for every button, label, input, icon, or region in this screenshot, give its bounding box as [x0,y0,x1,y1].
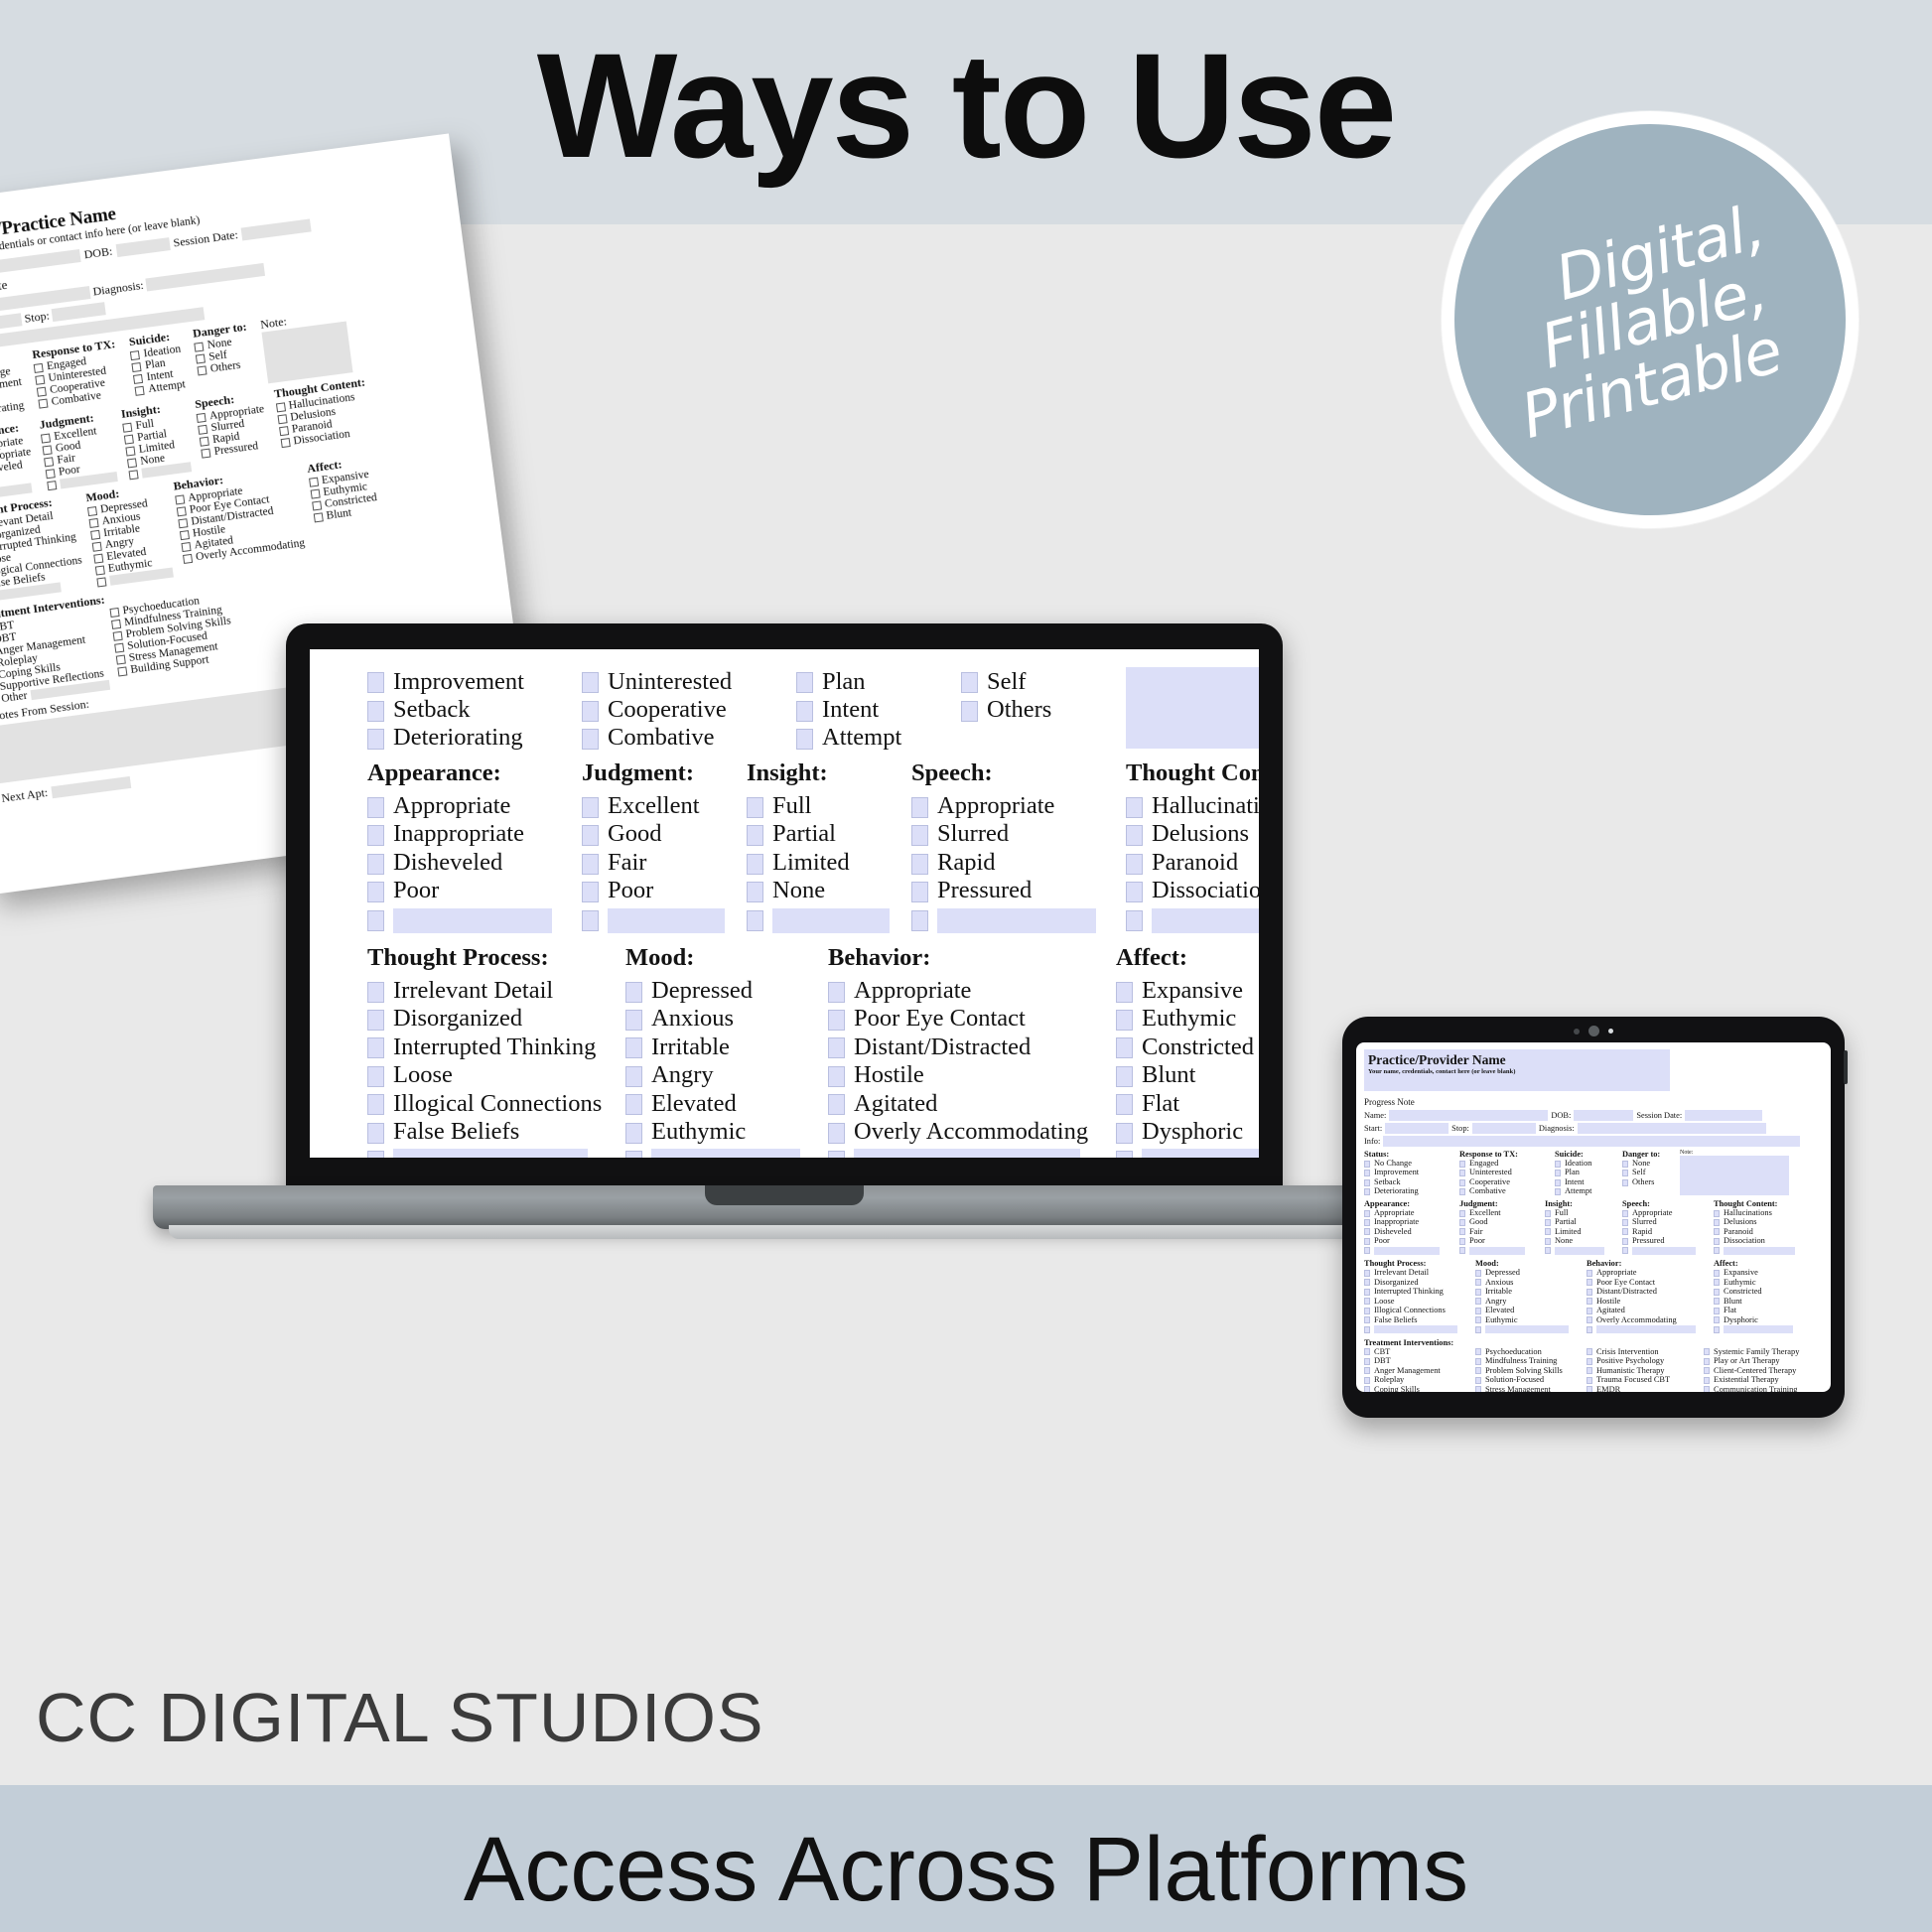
checkbox[interactable] [88,518,98,528]
tablet-check-item-other[interactable] [1587,1324,1714,1333]
checkbox[interactable] [796,672,813,693]
laptop-check-item[interactable]: Pressured [911,877,1126,904]
checkbox[interactable] [1622,1179,1628,1186]
checkbox[interactable] [1459,1170,1465,1176]
tablet-session-date-field[interactable] [1685,1110,1762,1121]
tablet-check-item[interactable]: Good [1459,1217,1545,1226]
tablet-check-item[interactable]: Elevated [1475,1306,1587,1314]
checkbox[interactable] [1704,1358,1710,1365]
checkbox[interactable] [1364,1270,1370,1277]
checkbox[interactable] [1116,1151,1133,1158]
laptop-check-item[interactable]: Loose [367,1061,625,1089]
checkbox[interactable] [367,910,384,931]
tablet-check-item[interactable]: Blunt [1714,1297,1793,1306]
checkbox[interactable] [1116,1010,1133,1031]
checkbox[interactable] [1587,1316,1592,1323]
tablet-check-item[interactable]: Self [1622,1168,1680,1176]
checkbox[interactable] [1714,1219,1720,1226]
laptop-check-item[interactable]: Rapid [911,848,1126,876]
laptop-check-item[interactable]: Blunt [1116,1061,1259,1089]
laptop-check-item[interactable]: Distant/Distracted [828,1033,1116,1060]
checkbox[interactable] [961,701,978,722]
laptop-check-item[interactable]: Illogical Connections [367,1089,625,1117]
checkbox[interactable] [1622,1170,1628,1176]
laptop-check-item[interactable]: Appropriate [911,791,1126,819]
tablet-check-item-other[interactable] [1545,1246,1622,1255]
checkbox[interactable] [1714,1298,1720,1305]
laptop-check-item[interactable]: Hostile [828,1061,1116,1089]
tablet-check-item[interactable]: Delusions [1714,1217,1795,1226]
checkbox[interactable] [747,825,763,846]
tablet-check-item-other[interactable] [1475,1324,1587,1333]
checkbox[interactable] [1587,1348,1592,1355]
tablet-info-field[interactable] [1383,1136,1800,1147]
checkbox[interactable] [911,882,928,902]
checkbox[interactable] [1364,1358,1370,1365]
laptop-check-item[interactable]: Irritable [625,1033,828,1060]
checkbox[interactable] [1364,1316,1370,1323]
tablet-check-item[interactable]: Excellent [1459,1208,1545,1217]
checkbox[interactable] [47,481,57,490]
laptop-check-item[interactable]: Limited [747,848,911,876]
checkbox[interactable] [625,982,642,1003]
checkbox[interactable] [828,1066,845,1087]
checkbox[interactable] [1714,1247,1720,1254]
tablet-check-item[interactable]: Overly Accommodating [1587,1315,1714,1324]
checkbox[interactable] [828,1010,845,1031]
tablet-stop-field[interactable] [1472,1123,1536,1134]
checkbox[interactable] [1364,1386,1370,1392]
checkbox[interactable] [127,458,137,468]
checkbox[interactable] [1587,1326,1592,1333]
paper-next-apt-field[interactable] [51,775,131,797]
checkbox[interactable] [94,565,104,575]
checkbox[interactable] [1714,1316,1720,1323]
checkbox[interactable] [1475,1358,1481,1365]
laptop-check-item[interactable]: Euthymic [625,1118,828,1146]
checkbox[interactable] [93,553,103,563]
laptop-check-item[interactable]: Poor Eye Contact [828,1005,1116,1033]
checkbox[interactable] [828,1094,845,1115]
tablet-check-item[interactable]: Fair [1459,1227,1545,1236]
checkbox[interactable] [582,672,599,693]
laptop-check-item[interactable]: Inappropriate [367,820,582,848]
checkbox[interactable] [625,1123,642,1144]
checkbox[interactable] [582,701,599,722]
checkbox[interactable] [1364,1326,1370,1333]
tablet-check-item[interactable]: Loose [1364,1297,1475,1306]
tablet-check-item[interactable]: Uninterested [1459,1168,1555,1176]
tablet-check-item[interactable]: Limited [1545,1227,1622,1236]
checkbox[interactable] [747,797,763,818]
checkbox[interactable] [1126,910,1143,931]
laptop-check-item[interactable]: Agitated [828,1089,1116,1117]
checkbox[interactable] [1116,1123,1133,1144]
checkbox[interactable] [1116,1037,1133,1058]
checkbox[interactable] [1587,1377,1592,1384]
checkbox[interactable] [117,666,127,676]
checkbox[interactable] [180,530,190,540]
tablet-check-item[interactable]: Positive Psychology [1587,1356,1704,1365]
checkbox[interactable] [1587,1298,1592,1305]
checkbox[interactable] [961,672,978,693]
checkbox[interactable] [747,854,763,875]
tablet-check-item[interactable]: Problem Solving Skills [1475,1366,1587,1375]
tablet-check-item[interactable]: Solution-Focused [1475,1375,1587,1384]
laptop-check-item[interactable]: Anxious [625,1005,828,1033]
checkbox[interactable] [1475,1316,1481,1323]
laptop-check-item[interactable]: Angry [625,1061,828,1089]
tablet-check-item[interactable]: Coping Skills [1364,1385,1475,1392]
tablet-check-item[interactable]: CBT [1364,1347,1475,1356]
checkbox[interactable] [1704,1348,1710,1355]
tablet-check-item[interactable]: Humanistic Therapy [1587,1366,1704,1375]
laptop-check-item[interactable]: Appropriate [828,976,1116,1004]
checkbox[interactable] [1704,1377,1710,1384]
tablet-check-item[interactable]: Anger Management [1364,1366,1475,1375]
checkbox[interactable] [1704,1367,1710,1374]
laptop-check-item[interactable]: Self [961,667,1126,695]
laptop-check-item-other[interactable] [625,1146,828,1158]
checkbox[interactable] [1364,1219,1370,1226]
tablet-check-item[interactable]: None [1622,1159,1680,1168]
checkbox[interactable] [625,1010,642,1031]
checkbox[interactable] [1116,982,1133,1003]
checkbox[interactable] [1622,1210,1628,1217]
checkbox[interactable] [1364,1210,1370,1217]
checkbox[interactable] [196,353,206,363]
checkbox[interactable] [91,542,101,552]
checkbox[interactable] [367,701,384,722]
laptop-check-item[interactable]: Disheveled [367,848,582,876]
checkbox[interactable] [111,620,121,629]
checkbox[interactable] [1714,1238,1720,1245]
checkbox[interactable] [181,542,191,552]
checkbox[interactable] [35,375,45,385]
tablet-check-item[interactable]: Play or Art Therapy [1704,1356,1799,1365]
checkbox[interactable] [1126,825,1143,846]
checkbox[interactable] [1714,1228,1720,1235]
laptop-check-item[interactable]: None [747,877,911,904]
checkbox[interactable] [1475,1270,1481,1277]
laptop-check-item[interactable]: Poor [582,877,747,904]
tablet-check-item[interactable]: Rapid [1622,1227,1714,1236]
checkbox[interactable] [44,457,54,467]
checkbox[interactable] [133,374,143,384]
checkbox[interactable] [367,982,384,1003]
checkbox[interactable] [114,643,124,653]
checkbox[interactable] [124,434,134,444]
checkbox[interactable] [1364,1228,1370,1235]
tablet-check-item[interactable]: Cooperative [1459,1177,1555,1186]
checkbox[interactable] [1545,1210,1551,1217]
tablet-check-item[interactable]: Anxious [1475,1278,1587,1287]
checkbox[interactable] [1622,1238,1628,1245]
tablet-power-button[interactable] [1844,1050,1848,1084]
tablet-check-item[interactable]: Stress Management [1475,1385,1587,1392]
checkbox[interactable] [1587,1270,1592,1277]
laptop-check-item[interactable]: Partial [747,820,911,848]
checkbox[interactable] [280,438,290,448]
checkbox[interactable] [582,797,599,818]
laptop-check-item[interactable]: Good [582,820,747,848]
laptop-check-item[interactable]: Poor [367,877,582,904]
checkbox[interactable] [828,1151,845,1158]
laptop-check-item-other[interactable] [367,1146,625,1158]
checkbox[interactable] [367,797,384,818]
tablet-check-item[interactable]: Communication Training [1704,1385,1799,1392]
tablet-check-item[interactable]: Poor Eye Contact [1587,1278,1714,1287]
checkbox[interactable] [367,1151,384,1158]
checkbox[interactable] [1714,1308,1720,1314]
checkbox[interactable] [135,386,145,396]
tablet-check-item[interactable]: Dissociation [1714,1236,1795,1245]
checkbox[interactable] [367,1066,384,1087]
laptop-check-item[interactable]: Euthymic [1116,1005,1259,1033]
tablet-check-item[interactable]: Euthymic [1475,1315,1587,1324]
tablet-check-item[interactable]: Appropriate [1587,1268,1714,1277]
tablet-check-item[interactable]: Client-Centered Therapy [1704,1366,1799,1375]
checkbox[interactable] [132,362,142,372]
checkbox[interactable] [625,1094,642,1115]
laptop-check-item[interactable]: Attempt [796,724,961,752]
checkbox[interactable] [1364,1348,1370,1355]
checkbox[interactable] [1459,1161,1465,1168]
checkbox[interactable] [1622,1219,1628,1226]
checkbox[interactable] [1459,1210,1465,1217]
checkbox[interactable] [277,414,287,424]
checkbox[interactable] [367,825,384,846]
checkbox[interactable] [367,1123,384,1144]
checkbox[interactable] [796,701,813,722]
checkbox[interactable] [1475,1386,1481,1392]
checkbox[interactable] [112,631,122,641]
tablet-check-item[interactable]: Roleplay [1364,1375,1475,1384]
laptop-check-item[interactable]: Irrelevant Detail [367,976,625,1004]
tablet-check-item[interactable]: Intent [1555,1177,1622,1186]
laptop-check-item-other[interactable] [828,1146,1116,1158]
checkbox[interactable] [198,425,207,435]
checkbox[interactable] [96,577,106,587]
checkbox[interactable] [310,488,320,498]
tablet-check-item[interactable]: Inappropriate [1364,1217,1459,1226]
checkbox[interactable] [1714,1279,1720,1286]
tablet-check-item[interactable]: DBT [1364,1356,1475,1365]
tablet-check-item[interactable]: Full [1545,1208,1622,1217]
tablet-check-item[interactable]: Crisis Intervention [1587,1347,1704,1356]
tablet-check-item[interactable]: Appropriate [1364,1208,1459,1217]
tablet-check-item[interactable]: Angry [1475,1297,1587,1306]
tablet-check-item-other[interactable] [1364,1324,1475,1333]
tablet-check-item[interactable]: Constricted [1714,1287,1793,1296]
laptop-check-item-other[interactable] [911,904,1126,934]
tablet-dob-field[interactable] [1574,1110,1633,1121]
checkbox[interactable] [38,398,48,408]
checkbox[interactable] [1364,1279,1370,1286]
laptop-check-item[interactable]: Disorganized [367,1005,625,1033]
checkbox[interactable] [828,1037,845,1058]
checkbox[interactable] [1587,1289,1592,1296]
checkbox[interactable] [796,729,813,750]
checkbox[interactable] [1116,1066,1133,1087]
checkbox[interactable] [1459,1188,1465,1195]
tablet-check-item[interactable]: Others [1622,1177,1680,1186]
checkbox[interactable] [1126,854,1143,875]
checkbox[interactable] [1475,1348,1481,1355]
tablet-check-item[interactable]: Slurred [1622,1217,1714,1226]
tablet-check-item[interactable]: Agitated [1587,1306,1714,1314]
laptop-check-item[interactable]: False Beliefs [367,1118,625,1146]
laptop-check-item[interactable]: Improvement [367,667,582,695]
checkbox[interactable] [1714,1326,1720,1333]
checkbox[interactable] [625,1037,642,1058]
checkbox[interactable] [582,882,599,902]
checkbox[interactable] [176,506,186,516]
checkbox[interactable] [128,470,138,480]
tablet-check-item[interactable]: Trauma Focused CBT [1587,1375,1704,1384]
laptop-check-item[interactable]: Setback [367,695,582,723]
tablet-check-item-other[interactable] [1459,1246,1545,1255]
checkbox[interactable] [1475,1367,1481,1374]
checkbox[interactable] [1459,1219,1465,1226]
tablet-diagnosis-field[interactable] [1578,1123,1766,1134]
checkbox[interactable] [109,608,119,618]
tablet-check-item[interactable]: Euthymic [1714,1278,1793,1287]
checkbox[interactable] [911,910,928,931]
checkbox[interactable] [1364,1289,1370,1296]
checkbox[interactable] [1587,1367,1592,1374]
tablet-check-item[interactable]: False Beliefs [1364,1315,1475,1324]
checkbox[interactable] [1555,1161,1561,1168]
tablet-check-item[interactable]: Plan [1555,1168,1622,1176]
tablet-check-item[interactable]: No Change [1364,1159,1459,1168]
laptop-check-item[interactable]: Paranoid [1126,848,1259,876]
checkbox[interactable] [1475,1298,1481,1305]
checkbox[interactable] [1475,1377,1481,1384]
tablet-check-item[interactable]: Expansive [1714,1268,1793,1277]
checkbox[interactable] [201,448,210,458]
laptop-check-item[interactable]: Cooperative [582,695,796,723]
checkbox[interactable] [367,1037,384,1058]
checkbox[interactable] [911,797,928,818]
tablet-check-item[interactable]: Interrupted Thinking [1364,1287,1475,1296]
checkbox[interactable] [1587,1358,1592,1365]
checkbox[interactable] [42,445,52,455]
checkbox[interactable] [1587,1308,1592,1314]
tablet-check-item[interactable]: Hallucinations [1714,1208,1795,1217]
checkbox[interactable] [1364,1308,1370,1314]
laptop-check-item[interactable]: Constricted [1116,1033,1259,1060]
checkbox[interactable] [367,1010,384,1031]
checkbox[interactable] [175,494,185,504]
checkbox[interactable] [275,402,285,412]
checkbox[interactable] [200,437,209,447]
tablet-check-item[interactable]: Hostile [1587,1297,1714,1306]
checkbox[interactable] [34,363,44,373]
checkbox[interactable] [1714,1210,1720,1217]
tablet-check-item-other[interactable] [1364,1246,1459,1255]
checkbox[interactable] [1459,1247,1465,1254]
checkbox[interactable] [1364,1161,1370,1168]
laptop-check-item[interactable]: Interrupted Thinking [367,1033,625,1060]
tablet-check-item[interactable]: Illogical Connections [1364,1306,1475,1314]
checkbox[interactable] [1459,1228,1465,1235]
laptop-check-item[interactable]: Overly Accommodating [828,1118,1116,1146]
laptop-check-item-other[interactable] [1116,1146,1259,1158]
tablet-check-item[interactable]: Poor [1364,1236,1459,1245]
laptop-check-item[interactable]: Slurred [911,820,1126,848]
tablet-check-item[interactable]: Disorganized [1364,1278,1475,1287]
tablet-check-item[interactable]: Dysphoric [1714,1315,1793,1324]
tablet-start-field[interactable] [1385,1123,1449,1134]
checkbox[interactable] [312,500,322,510]
laptop-check-item[interactable]: Fair [582,848,747,876]
tablet-check-item[interactable]: Psychoeducation [1475,1347,1587,1356]
checkbox[interactable] [367,882,384,902]
checkbox[interactable] [1555,1179,1561,1186]
checkbox[interactable] [1459,1179,1465,1186]
laptop-check-item[interactable]: Dissociation [1126,877,1259,904]
checkbox[interactable] [122,423,132,433]
checkbox[interactable] [828,982,845,1003]
checkbox[interactable] [309,478,319,487]
tablet-check-item-other[interactable] [1622,1246,1714,1255]
laptop-check-item[interactable]: Full [747,791,911,819]
checkbox[interactable] [1545,1228,1551,1235]
checkbox[interactable] [37,387,47,397]
checkbox[interactable] [1126,882,1143,902]
checkbox[interactable] [911,825,928,846]
checkbox[interactable] [1364,1170,1370,1176]
checkbox[interactable] [582,910,599,931]
checkbox[interactable] [1555,1188,1561,1195]
tablet-name-field[interactable] [1389,1110,1548,1121]
checkbox[interactable] [1622,1247,1628,1254]
checkbox[interactable] [828,1123,845,1144]
checkbox[interactable] [41,433,51,443]
tablet-check-item[interactable]: Deteriorating [1364,1186,1459,1195]
checkbox[interactable] [625,1151,642,1158]
tablet-check-item[interactable]: Appropriate [1622,1208,1714,1217]
checkbox[interactable] [125,446,135,456]
checkbox[interactable] [1364,1179,1370,1186]
laptop-check-item[interactable]: Deteriorating [367,724,582,752]
checkbox[interactable] [1126,797,1143,818]
tablet-check-item[interactable]: Mindfulness Training [1475,1356,1587,1365]
checkbox[interactable] [582,854,599,875]
checkbox[interactable] [1116,1094,1133,1115]
checkbox[interactable] [313,512,323,522]
checkbox[interactable] [46,469,56,479]
tablet-check-item[interactable]: Combative [1459,1186,1555,1195]
laptop-check-item[interactable]: Intent [796,695,961,723]
checkbox[interactable] [1714,1270,1720,1277]
tablet-check-item[interactable]: Disheveled [1364,1227,1459,1236]
tablet-check-item[interactable]: Flat [1714,1306,1793,1314]
checkbox[interactable] [367,854,384,875]
checkbox[interactable] [1364,1367,1370,1374]
laptop-check-item[interactable]: Plan [796,667,961,695]
checkbox[interactable] [198,365,207,375]
checkbox[interactable] [1475,1308,1481,1314]
checkbox[interactable] [747,882,763,902]
checkbox[interactable] [194,342,204,351]
laptop-check-item-other[interactable] [747,904,911,934]
laptop-check-item[interactable]: Flat [1116,1089,1259,1117]
laptop-check-item[interactable]: Expansive [1116,976,1259,1004]
tablet-check-item[interactable]: Systemic Family Therapy [1704,1347,1799,1356]
checkbox[interactable] [1622,1161,1628,1168]
